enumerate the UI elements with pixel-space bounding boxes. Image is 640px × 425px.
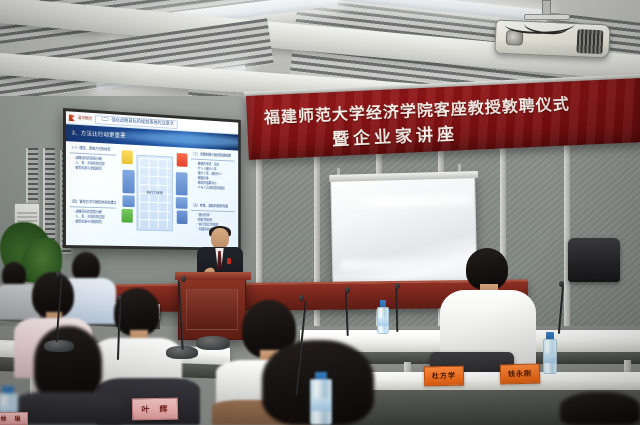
microphone-base	[44, 340, 74, 352]
bottle-label	[311, 398, 331, 411]
slide-logo-text: 清华教控	[78, 115, 92, 122]
name-card: 钱永刚	[500, 363, 541, 384]
projector-vent	[576, 29, 603, 54]
bottle-label	[378, 318, 388, 326]
slide-note-right-body: · 要做的事项、目标 · 什么人做什么事 · 做什么事、做到什么 · 程度标准 …	[196, 162, 236, 192]
microphone-head	[395, 283, 400, 289]
bottle-body	[377, 307, 389, 334]
diagram-core: 执行力体系	[137, 155, 174, 232]
bottle-body	[543, 339, 557, 374]
water-bottle[interactable]	[310, 372, 332, 425]
microphone-head	[181, 276, 186, 282]
audience-shirt	[16, 392, 122, 425]
conference-chair[interactable]	[568, 238, 620, 282]
name-card: 林 琳	[0, 412, 28, 425]
slide-note-left-body: · 战略目标的层层分解 · 人、事、责权利的匹配 · 做事标准与流程规范	[74, 156, 118, 173]
name-card: 杜方学	[424, 366, 464, 387]
microphone-base	[196, 336, 230, 350]
company-logo-icon	[69, 114, 75, 121]
diagram-box-yellow	[122, 150, 133, 164]
diagram-box-blue	[176, 172, 188, 195]
slide-diagram: 执行力体系	[122, 148, 188, 239]
microphone-head	[56, 271, 61, 277]
water-bottle[interactable]	[377, 300, 389, 334]
microphone-head	[559, 281, 564, 287]
diagram-box-green	[122, 209, 133, 223]
whiteboard-glare	[336, 193, 472, 208]
audience-member	[560, 392, 640, 425]
name-card: 叶 辉	[132, 398, 178, 421]
podium-top	[175, 272, 251, 280]
name-card-text: 钱永刚	[508, 369, 532, 380]
name-card-text: 杜方学	[432, 371, 456, 381]
diagram-box-blue	[123, 170, 135, 194]
diagram-box-red	[177, 153, 188, 167]
diagram-box-blue	[176, 197, 188, 209]
presenter-lapel-badge	[227, 258, 231, 264]
diagram-box-navy	[177, 210, 188, 224]
conference-room-photo: 清华教控 （二）强化战略目标的规划落地的注意点 3、方法比行动更重要 （一）理念…	[0, 0, 640, 425]
audience-head	[560, 392, 640, 425]
microphone-head	[345, 287, 350, 293]
diagram-box-blue	[123, 195, 135, 207]
name-card-text: 林 琳	[0, 414, 21, 423]
slide-section-title: 3、方法比行动更重要	[72, 129, 126, 140]
audience-head	[34, 326, 102, 400]
slide-note-bottom-left-body: · 战略目标的层层分解 · 人、事、责权利的匹配 · 做事标准与流程规范	[74, 209, 118, 225]
microphone-head	[299, 295, 304, 301]
microphone-head	[117, 295, 122, 301]
slide-note-bottom-left: （四）管控方式与授权体系的建立	[70, 199, 118, 206]
diagram-core-label: 执行力体系	[147, 191, 163, 196]
banner-line-2: 暨企业家讲座	[331, 119, 458, 150]
water-bottle[interactable]	[543, 332, 557, 374]
presenter-head	[211, 228, 229, 249]
bottle-body	[310, 379, 332, 425]
name-card-text: 叶 辉	[141, 403, 168, 414]
slide-note-bottom-right: （五）考核、激励机制的完善	[191, 203, 236, 209]
slide-divider	[191, 210, 235, 212]
bottle-label	[544, 353, 556, 363]
slide-divider	[70, 206, 116, 208]
